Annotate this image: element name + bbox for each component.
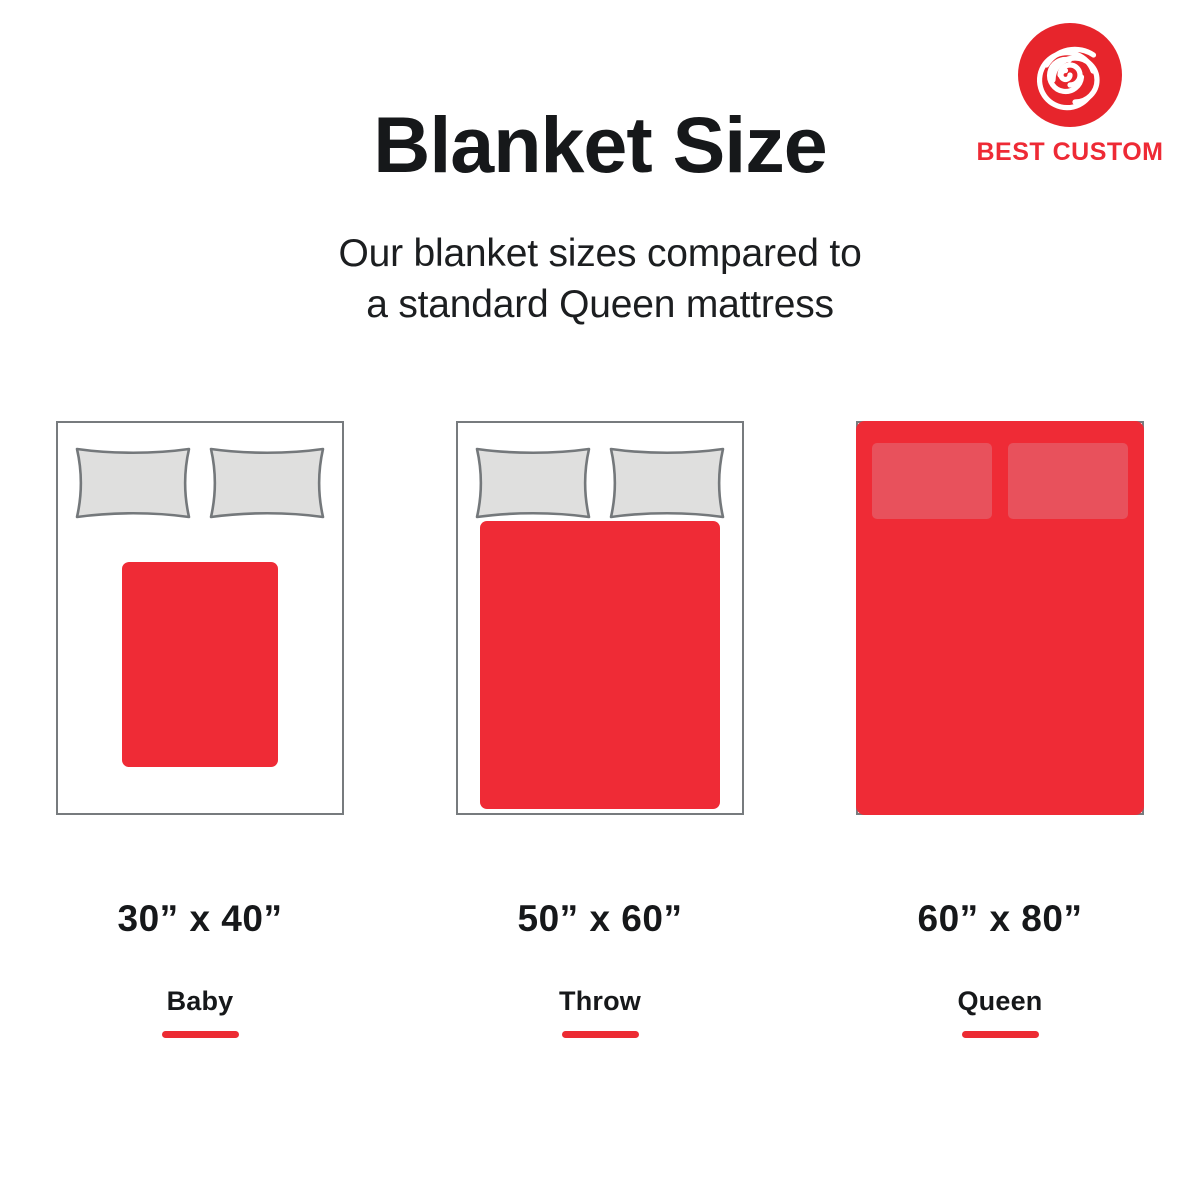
caption-throw: 50” x 60” Throw	[400, 898, 800, 1038]
pillow-icon	[206, 445, 328, 521]
bed-column-throw	[400, 421, 800, 815]
bed-frame-queen	[856, 421, 1144, 815]
caption-queen: 60” x 80” Queen	[800, 898, 1200, 1038]
bed-frame-throw	[456, 421, 744, 815]
pillow-row-queen	[856, 443, 1144, 519]
page-title: Blanket Size	[0, 104, 1200, 187]
blanket-baby	[122, 562, 278, 767]
caption-underline	[962, 1031, 1039, 1038]
pillow-icon	[1008, 443, 1128, 519]
pillow-row-baby	[58, 445, 342, 521]
caption-underline	[162, 1031, 239, 1038]
blanket-name: Queen	[957, 986, 1042, 1017]
caption-underline	[562, 1031, 639, 1038]
pillow-icon	[606, 445, 728, 521]
page-subtitle: Our blanket sizes compared to a standard…	[0, 228, 1200, 331]
pillow-icon	[72, 445, 194, 521]
blanket-dimensions: 60” x 80”	[918, 898, 1083, 940]
bed-diagram-row	[0, 421, 1200, 821]
caption-baby: 30” x 40” Baby	[0, 898, 400, 1038]
blanket-queen	[856, 421, 1144, 815]
pillow-icon	[472, 445, 594, 521]
blanket-throw	[480, 521, 720, 809]
pillow-icon	[872, 443, 992, 519]
bed-column-queen	[800, 421, 1200, 815]
pillow-row-throw	[458, 445, 742, 521]
blanket-size-infographic: BEST CUSTOM Blanket Size Our blanket siz…	[0, 0, 1200, 1200]
bed-column-baby	[0, 421, 400, 815]
blanket-name: Throw	[559, 986, 641, 1017]
subtitle-line-2: a standard Queen mattress	[0, 279, 1200, 330]
bed-frame-baby	[56, 421, 344, 815]
blanket-dimensions: 30” x 40”	[118, 898, 283, 940]
blanket-name: Baby	[167, 986, 234, 1017]
blanket-dimensions: 50” x 60”	[518, 898, 683, 940]
subtitle-line-1: Our blanket sizes compared to	[0, 228, 1200, 279]
caption-row: 30” x 40” Baby 50” x 60” Throw 60” x 80”…	[0, 898, 1200, 1038]
